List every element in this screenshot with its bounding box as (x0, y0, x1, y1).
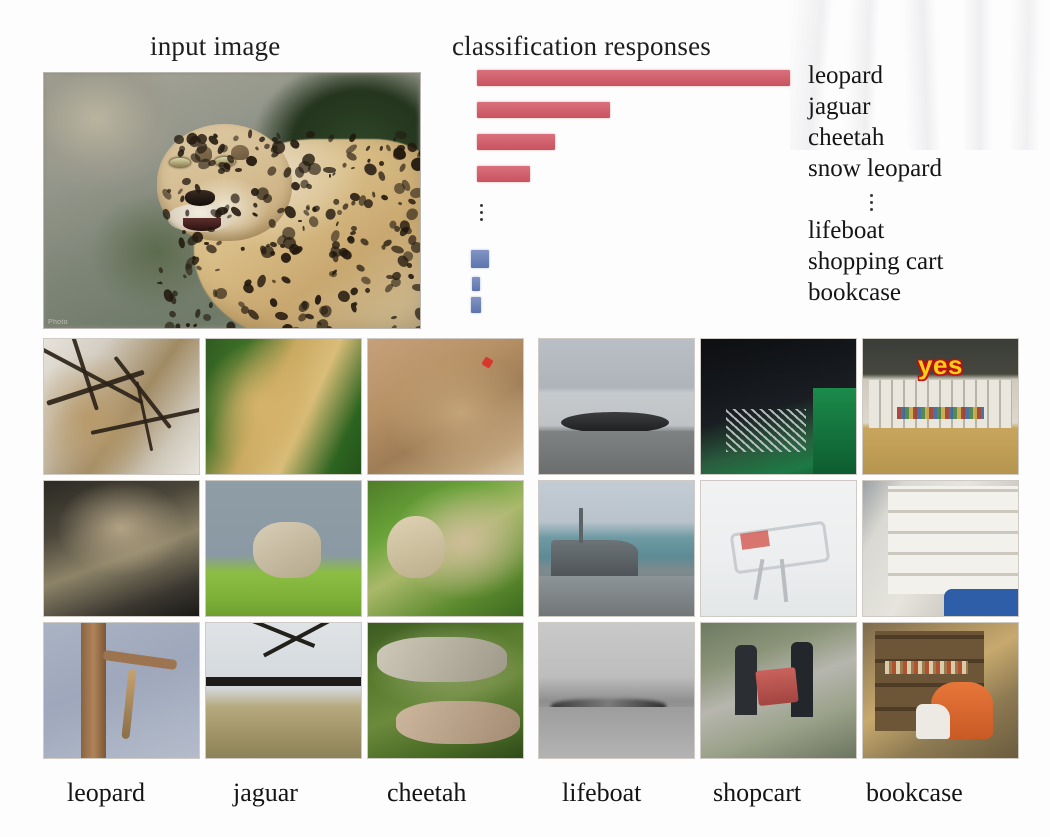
input-image-title: input image (150, 31, 280, 62)
right-image-grid: yes (538, 338, 1019, 759)
label-spacer (808, 184, 1048, 194)
grid-cell-bookcase-r2 (862, 480, 1019, 617)
grid-cell-bookcase-r1: yes (862, 338, 1019, 475)
leopard-spots (44, 73, 420, 328)
response-truncation-dots (808, 194, 1048, 211)
grid-cell-shopcart-r3 (700, 622, 857, 759)
column-label-shopcart: shopcart (713, 778, 801, 808)
dock (539, 576, 694, 617)
grid-cell-jaguar-r3 (205, 622, 362, 759)
bar-shopping-cart (472, 277, 480, 291)
photo-credit: Photo (48, 319, 68, 326)
bar-jaguar (477, 102, 610, 118)
white-shelving (888, 486, 1018, 594)
person-left (735, 645, 757, 715)
ground (539, 431, 694, 474)
column-label-cheetah: cheetah (387, 778, 466, 808)
bar-truncation-dots (479, 204, 483, 225)
response-label-list: leopard jaguar cheetah snow leopard life… (808, 60, 1048, 308)
grid-cell-shopcart-r2 (700, 480, 857, 617)
column-label-row: leopard jaguar cheetah lifeboat shopcart… (0, 778, 1050, 818)
response-label-shopping-cart: shopping cart (808, 246, 1048, 277)
yes-overlay-text: yes (918, 350, 963, 381)
response-label-jaguar: jaguar (808, 91, 1048, 122)
grid-cell-cheetah-r2 (367, 480, 524, 617)
grid-cell-shopcart-r1 (700, 338, 857, 475)
water (539, 707, 694, 758)
books-on-shelf (885, 661, 969, 675)
tree-branches (44, 339, 199, 474)
ship-mast (579, 508, 583, 543)
bar-leopard (477, 70, 790, 86)
response-label-cheetah: cheetah (808, 122, 1048, 153)
blue-sofa (944, 589, 1018, 616)
column-label-leopard: leopard (67, 778, 145, 808)
response-label-leopard: leopard (808, 60, 1048, 91)
column-label-lifeboat: lifeboat (562, 778, 641, 808)
horizontal-bar (206, 677, 361, 686)
cart-wreck (726, 409, 807, 452)
grid-cell-cheetah-r1 (367, 338, 524, 475)
cheetah-face (387, 516, 446, 578)
grid-cell-lifeboat-r1 (538, 338, 695, 475)
left-image-grid (43, 338, 524, 759)
classification-responses-title: classification responses (452, 31, 711, 62)
grid-cell-leopard-r1 (43, 338, 200, 475)
cheetah-lying-2 (396, 701, 520, 744)
column-label-jaguar: jaguar (233, 778, 298, 808)
grid-cell-cheetah-r3 (367, 622, 524, 759)
response-label-snow-leopard: snow leopard (808, 153, 1048, 184)
bar-snow-leopard (477, 166, 530, 182)
response-label-bookcase: bookcase (808, 277, 1048, 308)
grid-cell-jaguar-r1 (205, 338, 362, 475)
cheetah-lying (377, 637, 507, 683)
tree-limb (103, 650, 178, 670)
white-bag (916, 704, 950, 739)
bar-cheetah (477, 134, 555, 150)
cheetah-cub-silhouette (253, 522, 321, 579)
book-row-color (897, 407, 984, 419)
grid-cell-leopard-r2 (43, 480, 200, 617)
red-marker (481, 356, 493, 368)
input-image-photo: Photo (43, 72, 421, 329)
bar-lifeboat (471, 250, 489, 268)
green-screen (813, 388, 856, 474)
grid-cell-lifeboat-r3 (538, 622, 695, 759)
grid-cell-jaguar-r2 (205, 480, 362, 617)
leopard-tail (121, 669, 136, 740)
grid-cell-lifeboat-r2 (538, 480, 695, 617)
bookshelf-unit (869, 380, 1012, 429)
bar-bookcase (471, 297, 481, 313)
response-label-lifeboat: lifeboat (808, 215, 1048, 246)
grid-cell-leopard-r3 (43, 622, 200, 759)
grid-cell-bookcase-r3 (862, 622, 1019, 759)
column-label-bookcase: bookcase (866, 778, 963, 808)
red-cart (755, 667, 799, 706)
leopard-photo-render (44, 73, 420, 328)
tree-trunk (81, 623, 106, 758)
